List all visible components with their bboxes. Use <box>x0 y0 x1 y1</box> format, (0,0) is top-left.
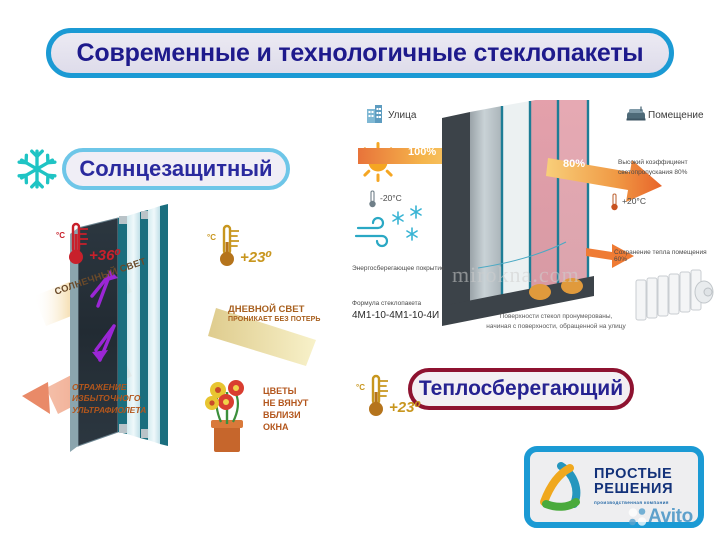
avito-wordmark: Avito <box>648 506 693 528</box>
mini-thermometer-inside-icon <box>610 193 619 211</box>
avito-watermark: Avito <box>628 506 693 528</box>
page-title: Современные и технологичные стеклопакеты <box>77 39 644 68</box>
spacer-bottom-2 <box>141 429 148 438</box>
badge-heat-saving: Теплосберегающий <box>408 368 634 410</box>
temp-inside: +20°C <box>622 196 646 206</box>
desiccant-1 <box>529 284 551 300</box>
badge-heat-saving-label: Теплосберегающий <box>419 377 623 401</box>
sun-protection-diagram <box>0 200 350 490</box>
coating-label: Энергосберегающее покрытие <box>352 265 445 272</box>
mini-thermometer-outside-icon <box>368 190 377 208</box>
thermometer-outside: °C +36⁰ <box>56 222 121 266</box>
spacer-top-2 <box>141 211 148 219</box>
heat-retention-note: Сохранение тепла помещения 60% <box>614 249 718 263</box>
thermometer-inside-unit: °C <box>207 233 216 242</box>
label-daylight-title: ДНЕВНОЙ СВЕТ <box>228 305 321 316</box>
transmission-note: Высокий коэффициент светопропускания 80% <box>618 158 714 178</box>
label-flowers-l2: НЕ ВЯНУТ <box>263 397 308 409</box>
badge-sun-protection-label: Солнцезащитный <box>79 156 272 182</box>
label-daylight: ДНЕВНОЙ СВЕТ ПРОНИКАЕТ БЕЗ ПОТЕРЬ <box>228 305 321 324</box>
label-uv-reflection: ОТРАЖЕНИЕ ИЗБЫТОЧНОГО УЛЬТРАФИОЛЕТА <box>72 382 146 416</box>
badge-sun-protection: Солнцезащитный <box>62 148 290 190</box>
label-flowers-l3: ВБЛИЗИ <box>263 409 308 421</box>
label-uv-reflection-l1: ОТРАЖЕНИЕ <box>72 382 146 393</box>
logo-line2: РЕШЕНИЯ <box>594 482 673 497</box>
flower-pot-icon <box>205 380 244 452</box>
incoming-percent: 100% <box>408 146 436 158</box>
surface-note: Поверхности стекол пронумерованы, начина… <box>468 312 644 332</box>
label-uv-reflection-l2: ИЗБЫТОЧНОГО <box>72 393 146 404</box>
snowflake-small-icons <box>393 206 421 240</box>
thermometer-inside: °C +23⁰ <box>207 224 272 268</box>
thermometer-heat-badge: °C +23⁰ <box>356 374 421 418</box>
glass-frame-dark <box>442 112 470 322</box>
cold-wind-icon <box>356 218 387 246</box>
glass-pane-pink-1 <box>530 100 558 294</box>
label-flowers-l4: ОКНА <box>263 421 308 433</box>
thermometer-red-icon <box>66 222 88 266</box>
outgoing-percent: 80% <box>563 158 585 170</box>
glass-gap-left <box>502 101 530 300</box>
formula-caption: Формула стеклопакета <box>352 300 421 307</box>
glass-body-left <box>470 106 502 310</box>
snowflake-icon <box>16 148 58 190</box>
uv-reflection-arrow <box>22 382 50 414</box>
surface-note-l1: Поверхности стекол пронумерованы, <box>468 312 644 322</box>
thermometer-outside-value: +36⁰ <box>89 246 121 264</box>
desiccant-2 <box>561 278 583 294</box>
label-daylight-sub: ПРОНИКАЕТ БЕЗ ПОТЕРЬ <box>228 316 321 324</box>
thermometer-outside-unit: °C <box>56 231 65 240</box>
logo-line1: ПРОСТЫЕ <box>594 467 673 482</box>
page-title-banner: Современные и технологичные стеклопакеты <box>46 28 674 78</box>
glass-pane-pink-2 <box>558 100 588 288</box>
spacer-bottom-1 <box>119 424 127 433</box>
thermometer-heat-badge-value: +23⁰ <box>389 398 421 416</box>
surface-note-l2: начиная с поверхности, обращенной на ули… <box>468 322 644 332</box>
infographic-root: Современные и технологичные стеклопакеты… <box>0 0 720 538</box>
label-uv-reflection-l3: УЛЬТРАФИОЛЕТА <box>72 405 146 416</box>
label-flowers: ЦВЕТЫ НЕ ВЯНУТ ВБЛИЗИ ОКНА <box>263 385 308 434</box>
logo-text: ПРОСТЫЕ РЕШЕНИЯ производственная компани… <box>594 467 673 506</box>
glass-pane-3 <box>160 204 168 446</box>
thermometer-gold-icon <box>217 224 239 268</box>
avito-dots-icon <box>628 507 648 527</box>
label-flowers-l1: ЦВЕТЫ <box>263 385 308 397</box>
radiator-icon <box>634 266 718 330</box>
formula-value: 4М1-10-4М1-10-4И <box>352 310 439 321</box>
glass-gap-2 <box>148 206 160 444</box>
thermometer-inside-value: +23⁰ <box>240 248 272 266</box>
logo-mark-icon <box>530 456 592 518</box>
thermometer-gold-icon-2 <box>366 374 388 418</box>
thermometer-heat-badge-unit: °C <box>356 383 365 392</box>
temp-outside: -20°C <box>380 193 402 203</box>
